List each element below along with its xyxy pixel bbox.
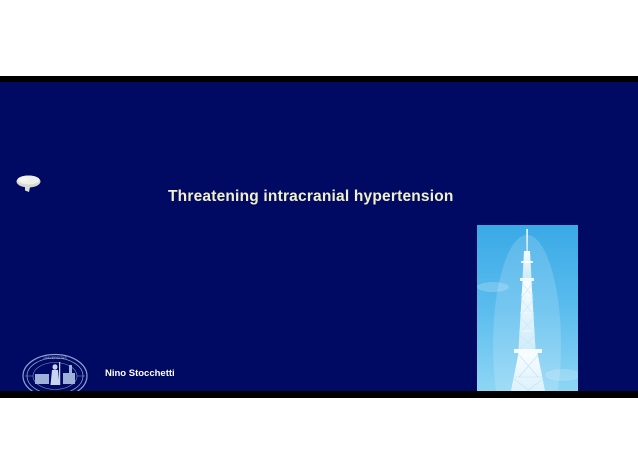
author-name: Nino Stocchetti (105, 368, 175, 379)
letterbox-band-bottom (0, 391, 638, 398)
page-title: Threatening intracranial hypertension (168, 188, 454, 206)
eiffel-tower-illustration (477, 225, 578, 391)
eiffel-tower-photo (477, 225, 578, 391)
brain-icon (15, 174, 42, 194)
slide-viewer: Threatening intracranial hypertension UN… (0, 0, 638, 476)
presentation-slide: Threatening intracranial hypertension UN… (0, 82, 638, 391)
svg-text:UNIVERSITAS: UNIVERSITAS (43, 356, 67, 360)
university-of-milan-seal: UNIVERSITAS MEDIOLANENSIS (21, 353, 89, 391)
